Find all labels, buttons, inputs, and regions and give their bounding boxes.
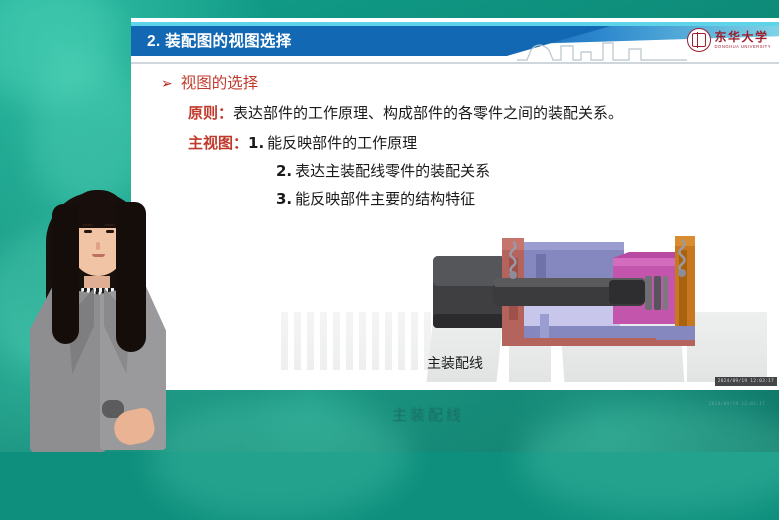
university-logo: 东华大学 DONGHUA UNIVERSITY xyxy=(687,25,771,55)
slide-title: 2. 装配图的视图选择 xyxy=(147,29,292,51)
figure-caption: 主装配线 xyxy=(131,353,779,373)
presenter-nose xyxy=(96,242,100,250)
university-name-cn: 东华大学 xyxy=(715,31,771,43)
presenter-video-overlay xyxy=(28,188,168,452)
bullet-row: ➢ 视图的选择 xyxy=(161,71,779,93)
presentation-slide: 东华大学 DONGHUA UNIVERSITY 2. 装配图的视图选择 ➢ 视图… xyxy=(131,18,779,390)
mainview-item: 3.能反映部件主要的结构特征 xyxy=(276,188,475,209)
recording-timestamp: 2024/09/19 12:03:17 xyxy=(715,377,777,386)
principle-text: 表达部件的工作原理、构成部件的各零件之间的装配关系。 xyxy=(233,102,623,123)
assembly-cross-section-figure xyxy=(423,228,713,353)
mainview-row: 2.表达主装配线零件的装配关系 xyxy=(276,160,779,181)
presenter-eye xyxy=(84,230,92,233)
presenter-hair-left xyxy=(52,204,79,344)
city-skyline-icon xyxy=(517,32,687,62)
mainview-item: 2.表达主装配线零件的装配关系 xyxy=(276,160,490,181)
principle-row: 原则： 表达部件的工作原理、构成部件的各零件之间的装配关系。 xyxy=(188,102,779,123)
university-name-block: 东华大学 DONGHUA UNIVERSITY xyxy=(715,31,771,49)
mainview-item-text: 能反映部件的工作原理 xyxy=(267,134,417,152)
mainview-row: 主视图： 1.能反映部件的工作原理 xyxy=(188,132,779,153)
mainview-item-number: 2. xyxy=(276,162,292,180)
mainview-item-text: 表达主装配线零件的装配关系 xyxy=(295,162,490,180)
principle-label: 原则： xyxy=(188,102,233,123)
lower-watermark-text: 主装配线 xyxy=(392,404,464,425)
presenter-eyebrow xyxy=(82,224,93,226)
recording-timestamp-reflection: 2024/09/19 12:03:17 xyxy=(709,402,765,407)
university-seal-icon xyxy=(687,28,711,52)
mainview-item-number: 1. xyxy=(248,134,264,152)
presenter-eye xyxy=(106,230,114,233)
slide-body: ➢ 视图的选择 原则： 表达部件的工作原理、构成部件的各零件之间的装配关系。 主… xyxy=(131,64,779,209)
mainview-label: 主视图： xyxy=(188,132,248,153)
presenter-hair-right xyxy=(116,202,146,352)
mainview-item: 1.能反映部件的工作原理 xyxy=(248,132,417,153)
bullet-arrow-icon: ➢ xyxy=(161,76,173,92)
mainview-row: 3.能反映部件主要的结构特征 xyxy=(276,188,779,209)
bullet-label: 视图的选择 xyxy=(181,71,259,93)
presenter-eyebrow xyxy=(104,224,115,226)
mainview-item-number: 3. xyxy=(276,190,292,208)
background-blob xyxy=(520,405,779,515)
mainview-item-text: 能反映部件主要的结构特征 xyxy=(295,190,475,208)
background-blob xyxy=(150,400,410,520)
university-name-en: DONGHUA UNIVERSITY xyxy=(715,45,771,50)
slide-header-banner: 东华大学 DONGHUA UNIVERSITY 2. 装配图的视图选择 xyxy=(131,18,779,64)
